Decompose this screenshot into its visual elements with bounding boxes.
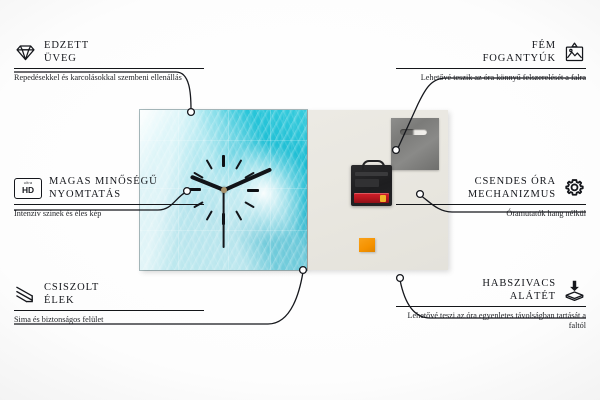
picture-hanger-icon <box>563 41 586 64</box>
feature-title-line2: ÜVEG <box>44 53 77 64</box>
feature-title-line2: ÉLEK <box>44 295 74 306</box>
feature-title-line1: EDZETT <box>44 40 89 51</box>
feature-description: Lehetővé teszi az óra egyenletes távolsá… <box>396 311 586 331</box>
metal-hanger-plate <box>391 118 439 170</box>
infographic-canvas: EDZETT ÜVEG Repedésekkel és karcolásokka… <box>0 0 600 400</box>
diamond-icon <box>14 41 37 64</box>
divider <box>396 204 586 205</box>
feature-title: CSENDES ÓRA MECHANIZMUS <box>468 176 556 201</box>
foam-spacer-pad <box>359 238 375 252</box>
feature-title-line2: ALÁTÉT <box>510 291 556 302</box>
clock-mechanism-box <box>351 165 392 206</box>
feature-title-line1: HABSZIVACS <box>482 278 556 289</box>
feature-title: HABSZIVACS ALÁTÉT <box>482 278 556 303</box>
ultra-hd-icon: ultra HD <box>14 178 42 199</box>
feature-description: Óramutatók hang nélkül <box>396 209 586 219</box>
feature-title-line1: FÉM <box>532 40 556 51</box>
feature-csendes-ora-mechanizmus: CSENDES ÓRA MECHANIZMUS Óramutatók hang … <box>396 176 586 219</box>
ultra-hd-icon-main: HD <box>22 186 34 194</box>
divider <box>14 310 204 311</box>
battery <box>354 193 389 203</box>
feature-fem-fogantyuk: FÉM FOGANTYÚK Lehetővé teszik az óra kön… <box>396 40 586 83</box>
feature-title-line1: CSENDES ÓRA <box>475 176 556 187</box>
feature-description: Repedésekkel és karcolásokkal szembeni e… <box>14 73 204 83</box>
feature-title: FÉM FOGANTYÚK <box>483 40 556 65</box>
feature-csiszolt-elek: CSISZOLT ÉLEK Sima és biztonságos felüle… <box>14 282 204 325</box>
clock-dial <box>140 110 307 270</box>
divider <box>396 306 586 307</box>
feature-edzett-uveg: EDZETT ÜVEG Repedésekkel és karcolásokka… <box>14 40 204 83</box>
clock-second-hand <box>223 190 225 248</box>
feature-title: EDZETT ÜVEG <box>44 40 89 65</box>
feature-title-line2: MECHANIZMUS <box>468 189 556 200</box>
foam-pad-icon <box>563 279 586 302</box>
polished-edges-icon <box>14 283 37 306</box>
feature-habszivacs-alatet: HABSZIVACS ALÁTÉT Lehetővé teszi az óra … <box>396 278 586 331</box>
clock-center-hub <box>221 187 227 193</box>
gear-icon <box>563 177 586 200</box>
feature-description: Lehetővé teszik az óra könnyű felszerelé… <box>396 73 586 83</box>
divider <box>14 68 204 69</box>
feature-title-line2: NYOMTATÁS <box>49 189 121 200</box>
feature-title-line1: CSISZOLT <box>44 282 99 293</box>
feature-title: CSISZOLT ÉLEK <box>44 282 99 307</box>
divider <box>396 68 586 69</box>
feature-description: Sima és biztonságos felület <box>14 315 204 325</box>
clock-face-front <box>140 110 307 270</box>
feature-title-line2: FOGANTYÚK <box>483 53 556 64</box>
